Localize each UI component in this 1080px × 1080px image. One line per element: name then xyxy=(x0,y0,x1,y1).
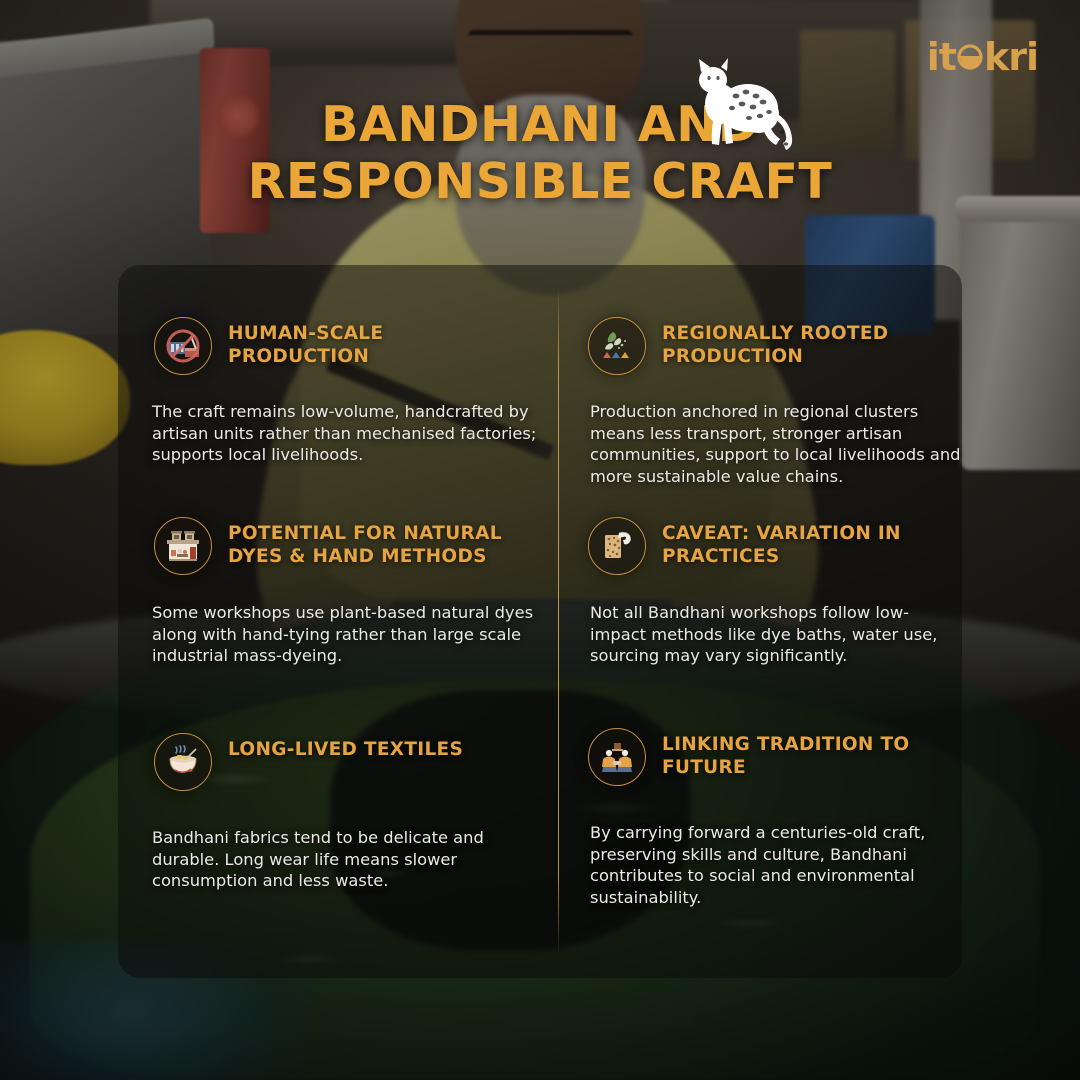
card-title: LINKING TRADITION TO FUTURE xyxy=(662,728,912,780)
card-body: By carrying forward a centuries-old craf… xyxy=(590,822,962,909)
card-human-scale-production: HUMAN-SCALE PRODUCTION The craft remains… xyxy=(118,265,558,475)
card-body: Not all Bandhani workshops follow low-im… xyxy=(590,602,962,667)
card-header: POTENTIAL FOR NATURAL DYES & HAND METHOD… xyxy=(154,517,558,575)
card-long-lived-textiles: LONG-LIVED TEXTILES Bandhani fabrics ten… xyxy=(118,683,558,978)
card-linking-tradition-to-future: LINKING TRADITION TO FUTURE By carrying … xyxy=(558,683,962,978)
title-line-2: RESPONSIBLE CRAFT xyxy=(0,153,1080,210)
workshop-building-icon xyxy=(154,517,212,575)
infographic-canvas: it kri BANDHANI AND RESPONSIBLE CRAFT xyxy=(0,0,1080,1080)
brand-logo[interactable]: it kri xyxy=(927,38,1038,76)
hand-holding-fabric-icon xyxy=(588,517,646,575)
plant-leaves-icon xyxy=(588,317,646,375)
cards-grid: HUMAN-SCALE PRODUCTION The craft remains… xyxy=(118,265,962,978)
card-title: POTENTIAL FOR NATURAL DYES & HAND METHOD… xyxy=(228,517,528,569)
card-natural-dyes-hand-methods: POTENTIAL FOR NATURAL DYES & HAND METHOD… xyxy=(118,475,558,683)
card-header: REGIONALLY ROOTED PRODUCTION xyxy=(588,317,962,375)
steaming-dye-pot-icon xyxy=(154,733,212,791)
card-caveat-variation-in-practices: CAVEAT: VARIATION IN PRACTICES Not all B… xyxy=(558,475,962,683)
card-header: HUMAN-SCALE PRODUCTION xyxy=(154,317,558,375)
card-header: CAVEAT: VARIATION IN PRACTICES xyxy=(588,517,962,575)
basket-icon xyxy=(957,44,983,70)
card-body: Bandhani fabrics tend to be delicate and… xyxy=(152,827,547,892)
card-header: LONG-LIVED TEXTILES xyxy=(154,733,558,791)
logo-text-part-2: kri xyxy=(984,38,1038,76)
card-regionally-rooted-production: REGIONALLY ROOTED PRODUCTION Production … xyxy=(558,265,962,475)
no-factory-machine-icon xyxy=(154,317,212,375)
title-line-1: BANDHANI AND xyxy=(0,96,1080,153)
header: it kri BANDHANI AND RESPONSIBLE CRAFT xyxy=(0,0,1080,250)
card-title: REGIONALLY ROOTED PRODUCTION xyxy=(662,317,952,369)
content-panel: HUMAN-SCALE PRODUCTION The craft remains… xyxy=(118,265,962,978)
card-title: CAVEAT: VARIATION IN PRACTICES xyxy=(662,517,952,569)
card-body: The craft remains low-volume, handcrafte… xyxy=(152,401,547,466)
two-artisans-icon xyxy=(588,728,646,786)
card-title: LONG-LIVED TEXTILES xyxy=(228,733,463,761)
card-title: HUMAN-SCALE PRODUCTION xyxy=(228,317,518,369)
card-header: LINKING TRADITION TO FUTURE xyxy=(588,728,962,786)
page-title: BANDHANI AND RESPONSIBLE CRAFT xyxy=(0,96,1080,211)
logo-text-part-1: it xyxy=(927,38,956,76)
card-body: Some workshops use plant-based natural d… xyxy=(152,602,547,667)
